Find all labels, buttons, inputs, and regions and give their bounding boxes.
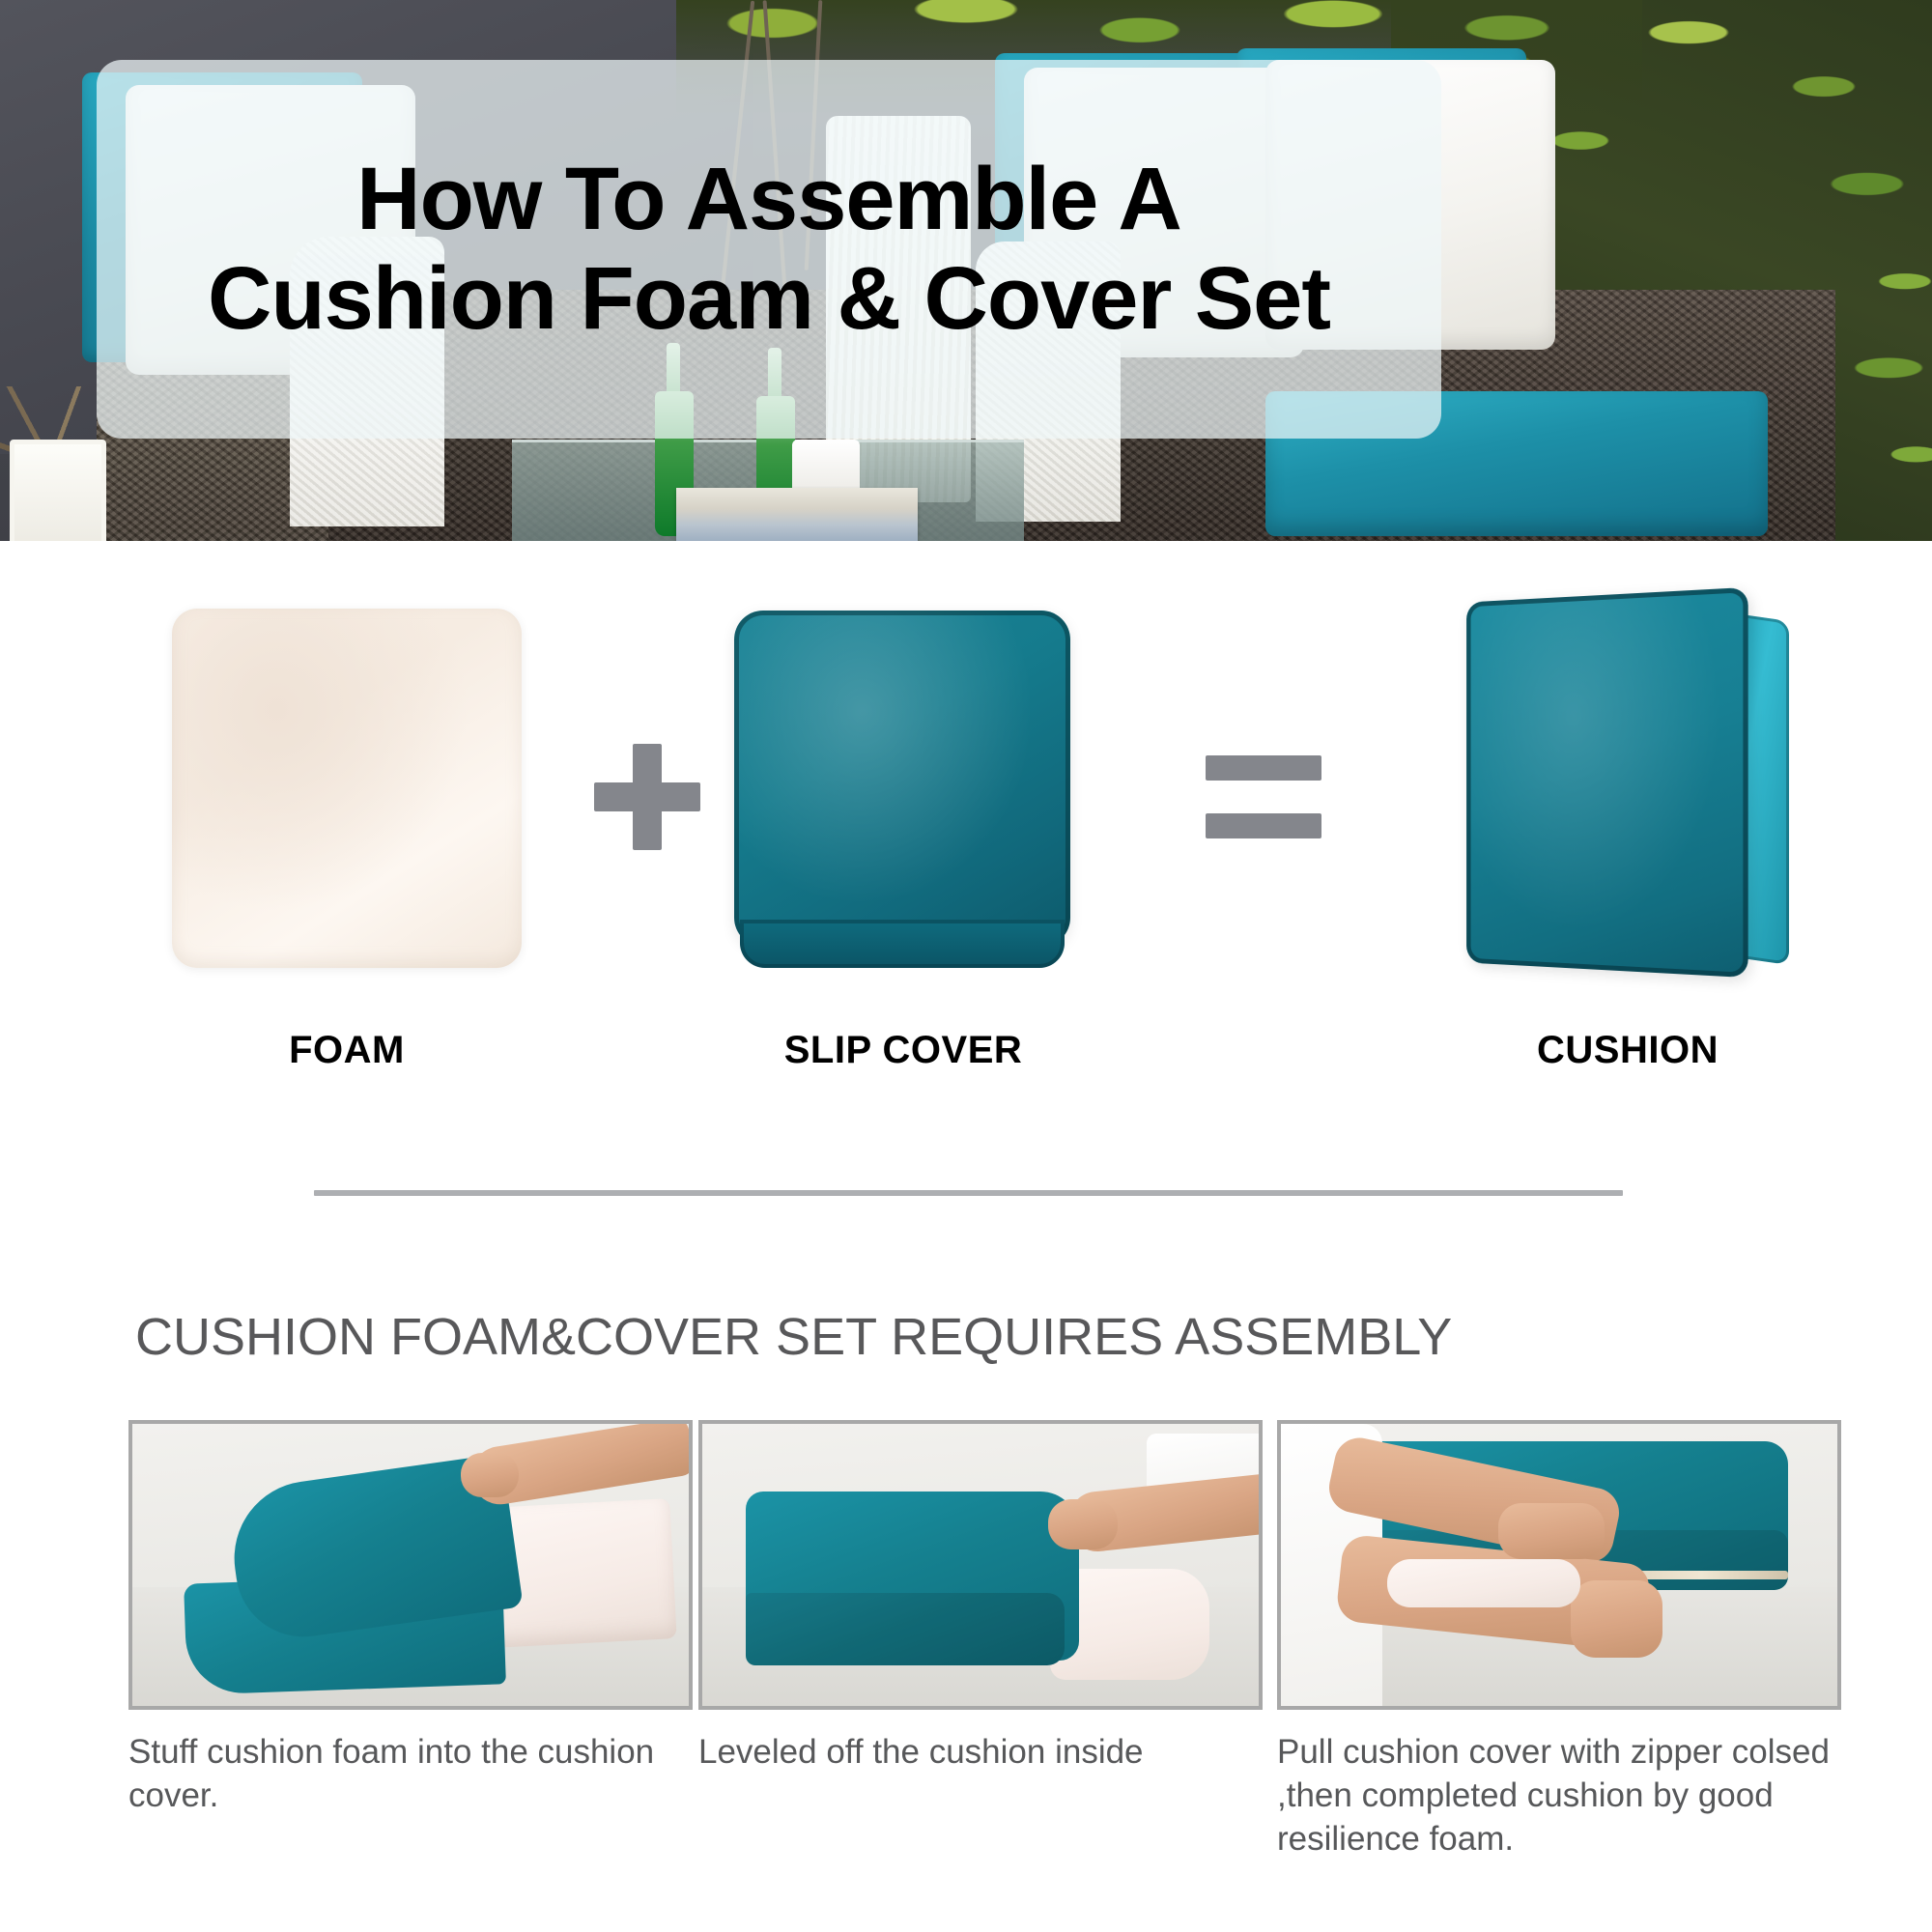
cushion-graphic — [1439, 595, 1845, 981]
label-slip-cover: SLIP COVER — [696, 1029, 1111, 1072]
step-1-caption: Stuff cushion foam into the cushion cove… — [128, 1731, 689, 1818]
step-3-caption: Pull cushion cover with zipper colsed ,t… — [1277, 1731, 1837, 1861]
fingers — [461, 1453, 519, 1497]
assembly-step-2: Leveled off the cushion inside — [698, 1420, 1278, 1775]
teal-cushion-side — [746, 1593, 1065, 1665]
title-line-2: Cushion Foam & Cover Set — [208, 249, 1330, 349]
assembly-section-heading: CUSHION FOAM&COVER SET REQUIRES ASSEMBLY — [135, 1307, 1835, 1367]
magazine-stack — [676, 488, 918, 541]
foam-edge — [1387, 1559, 1580, 1607]
slip-cover-skirt — [740, 920, 1065, 968]
section-divider — [314, 1190, 1623, 1196]
step-1-photo — [128, 1420, 693, 1710]
title-line-1: How To Assemble A — [356, 150, 1181, 249]
assembly-step-1: Stuff cushion foam into the cushion cove… — [128, 1420, 708, 1818]
equals-sign-icon — [1206, 755, 1321, 838]
hand-pulling-zipper — [1571, 1580, 1662, 1658]
label-cushion: CUSHION — [1420, 1029, 1835, 1072]
assembly-steps: Stuff cushion foam into the cushion cove… — [0, 1420, 1932, 1932]
step-3-photo — [1277, 1420, 1841, 1710]
foam-block-graphic — [172, 609, 522, 968]
white-lantern — [10, 440, 106, 541]
slip-cover-graphic — [734, 611, 1070, 947]
step-2-photo — [698, 1420, 1263, 1710]
product-equation-row — [0, 580, 1932, 1053]
plus-sign-icon — [594, 744, 700, 850]
hand — [1048, 1499, 1118, 1549]
label-foam: FOAM — [172, 1029, 522, 1072]
hand-on-cushion — [1498, 1503, 1605, 1559]
hero-image: How To Assemble A Cushion Foam & Cover S… — [0, 0, 1932, 541]
cushion-front-face — [1466, 587, 1748, 978]
assembly-step-3: Pull cushion cover with zipper colsed ,t… — [1277, 1420, 1857, 1861]
product-labels-row: FOAM SLIP COVER CUSHION — [0, 1029, 1932, 1087]
step-2-caption: Leveled off the cushion inside — [698, 1731, 1259, 1775]
title-overlay-card: How To Assemble A Cushion Foam & Cover S… — [97, 60, 1441, 439]
